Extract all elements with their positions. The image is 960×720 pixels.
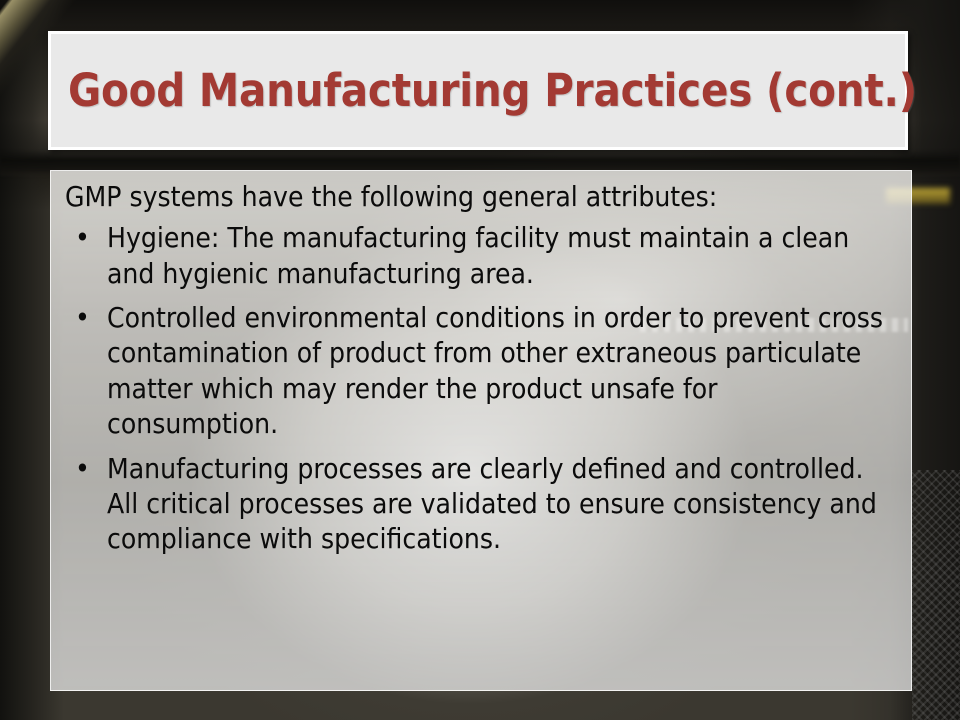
bullet-text: Hygiene: The manufacturing facility must… xyxy=(107,220,893,291)
bullet-item-defined-processes: • Manufacturing processes are clearly de… xyxy=(63,451,893,557)
slide-title: Good Manufacturing Practices (cont.) xyxy=(51,64,917,117)
bullet-list: • Hygiene: The manufacturing facility mu… xyxy=(63,220,893,557)
lead-paragraph: GMP systems have the following general a… xyxy=(65,182,893,212)
presentation-slide: Good Manufacturing Practices (cont.) GMP… xyxy=(0,0,960,720)
bullet-text: Manufacturing processes are clearly defi… xyxy=(107,451,893,557)
bullet-item-hygiene: • Hygiene: The manufacturing facility mu… xyxy=(63,220,893,291)
slide-title-bar: Good Manufacturing Practices (cont.) xyxy=(48,31,908,150)
bullet-dot-icon: • xyxy=(75,451,90,486)
slide-content-panel: GMP systems have the following general a… xyxy=(50,170,912,691)
bullet-item-controlled-conditions: • Controlled environmental conditions in… xyxy=(63,300,893,442)
bullet-dot-icon: • xyxy=(75,220,90,255)
background-grate-panel xyxy=(912,470,960,720)
bullet-text: Controlled environmental conditions in o… xyxy=(107,300,893,442)
bullet-dot-icon: • xyxy=(75,300,90,335)
